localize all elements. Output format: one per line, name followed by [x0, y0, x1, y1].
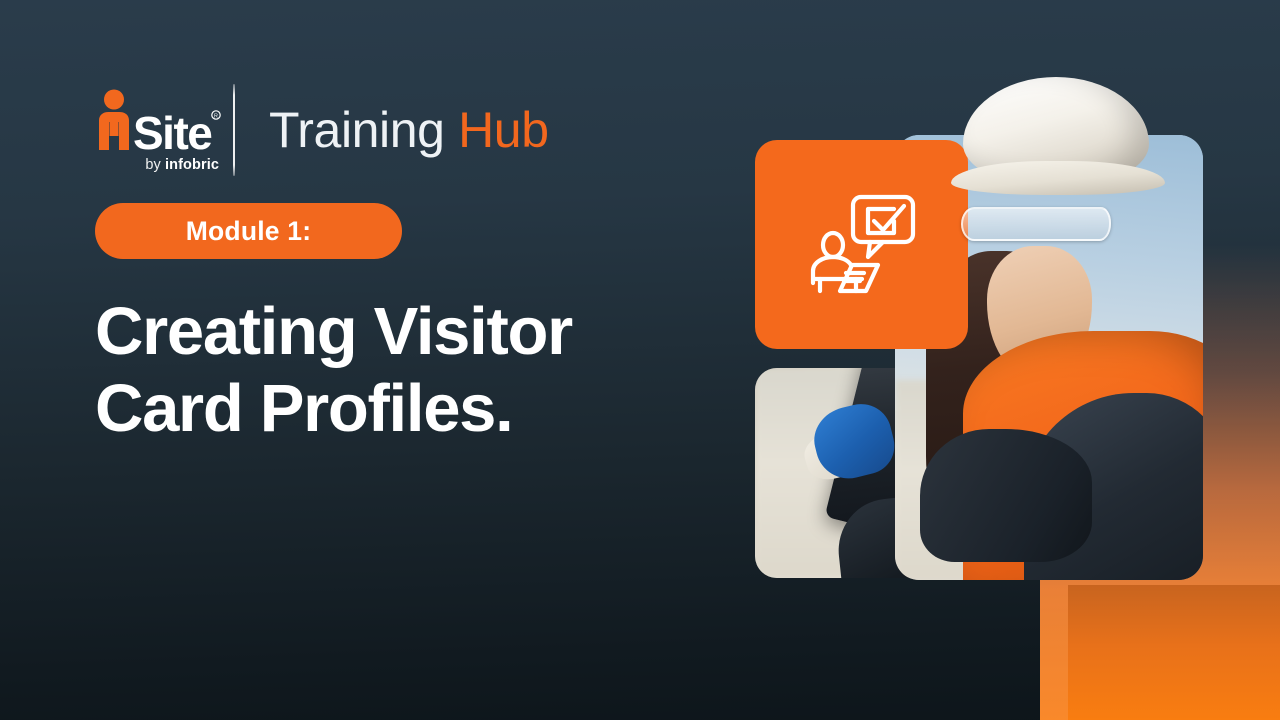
person-checklist-approval-icon [808, 193, 916, 297]
orange-icon-tile [755, 140, 968, 349]
orange-corner-block [1068, 585, 1280, 720]
page-title: Creating Visitor Card Profiles. [95, 293, 695, 448]
safety-glasses [961, 207, 1111, 241]
infobric-byline: by infobric [95, 157, 223, 173]
hard-hat-brim [951, 161, 1165, 195]
training-hub-title: Training Hub [269, 105, 549, 155]
image-collage [755, 135, 1205, 580]
headline-line-2: Card Profiles. [95, 370, 695, 447]
svg-text:R: R [214, 113, 218, 119]
brand-divider [233, 84, 235, 176]
msite-logo: Site R by infobric [95, 88, 223, 173]
byline-company: infobric [165, 157, 219, 173]
white-hard-hat [951, 77, 1165, 209]
svg-text:Site: Site [133, 107, 212, 154]
brand-lockup: Site R by infobric Training Hub [95, 80, 695, 180]
left-content-column: Site R by infobric Training Hub Module 1… [95, 80, 695, 448]
msite-person-m-logo-icon: Site R [95, 88, 223, 154]
title-word-training: Training [269, 102, 445, 158]
byline-prefix: by [145, 157, 165, 173]
headline-line-1: Creating Visitor [95, 293, 695, 370]
dark-sleeve-left [920, 429, 1092, 563]
slide-root: Site R by infobric Training Hub Module 1… [0, 0, 1280, 720]
title-word-hub: Hub [458, 102, 549, 158]
module-badge: Module 1: [95, 203, 402, 259]
